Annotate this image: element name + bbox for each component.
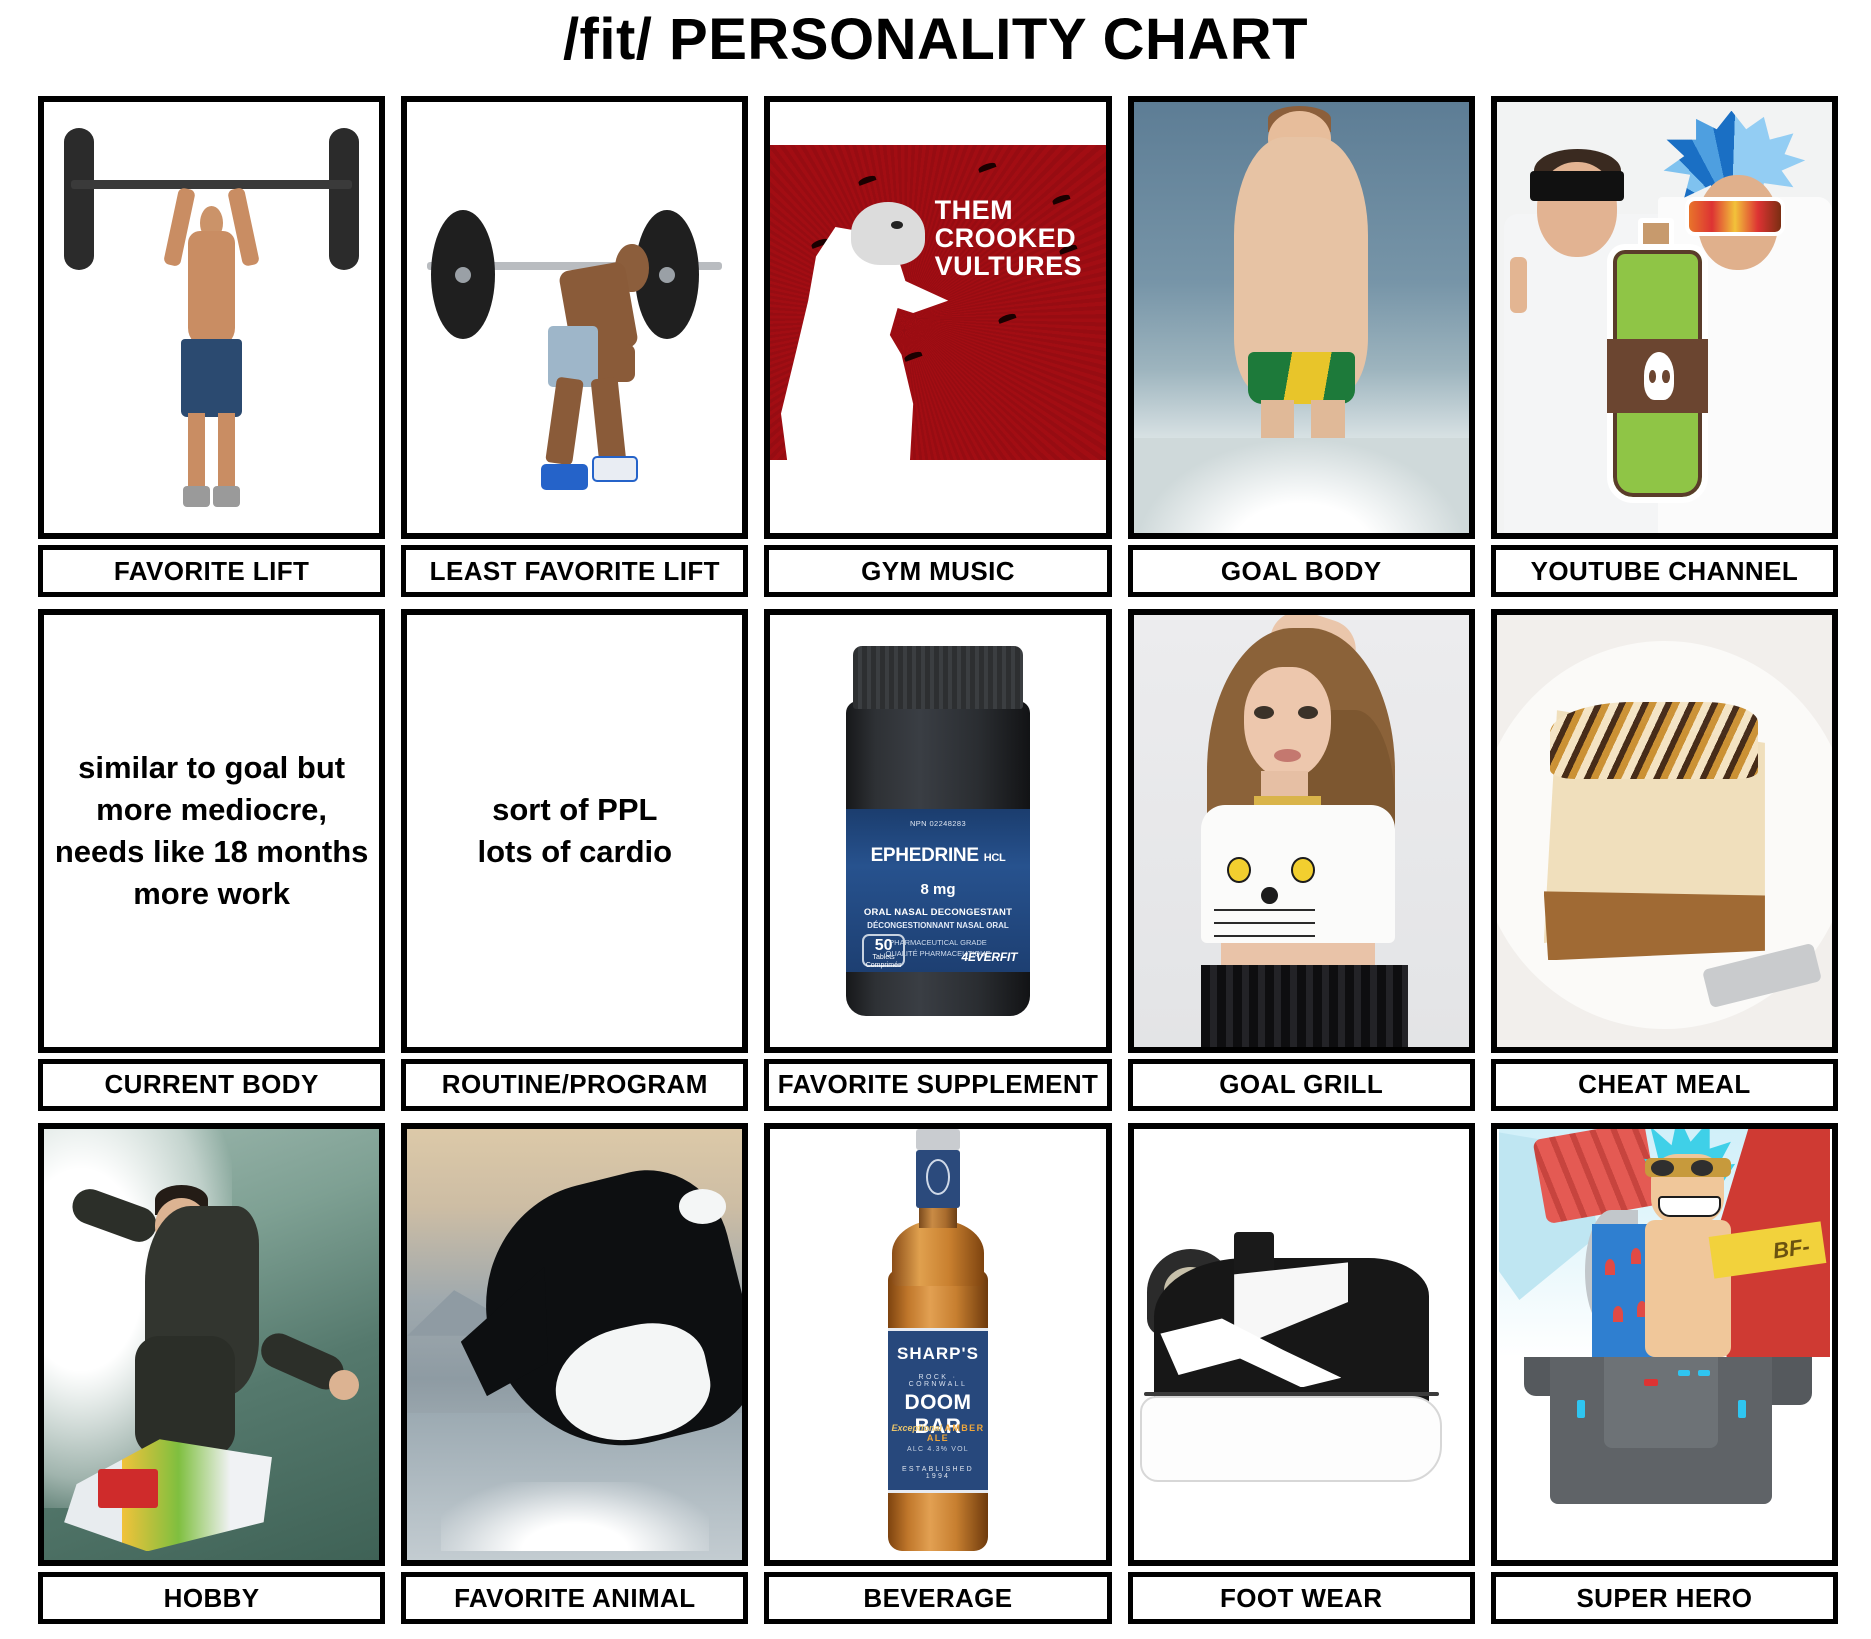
label-favorite-supplement: FAVORITE SUPPLEMENT (764, 1059, 1111, 1111)
current-body-text: similar to goal but more mediocre, needs… (45, 747, 379, 914)
cell-current-body: similar to goal but more mediocre, needs… (38, 609, 385, 1110)
cell-youtube-channel: YOUTUBE CHANNEL (1491, 96, 1838, 597)
label-foot-wear: FOOT WEAR (1128, 1572, 1475, 1624)
routine-program-text-box: sort of PPL lots of cardio (401, 609, 748, 1052)
skull-icon (1644, 352, 1674, 399)
personality-chart-page: /fit/ PERSONALITY CHART FAVORITE LIFT (0, 0, 1871, 1639)
cell-favorite-animal: FAVORITE ANIMAL (401, 1123, 748, 1624)
barbell-squat-icon (407, 102, 742, 533)
label-super-hero: SUPER HERO (1491, 1572, 1838, 1624)
cell-goal-grill: GOAL GRILL (1128, 609, 1475, 1110)
routine-program-text: sort of PPL lots of cardio (467, 789, 682, 873)
cell-least-favorite-lift: LEAST FAVORITE LIFT (401, 96, 748, 597)
label-hobby: HOBBY (38, 1572, 385, 1624)
album-cover-icon: Them Crooked Vultures (770, 145, 1105, 460)
favorite-animal-image (401, 1123, 748, 1566)
cell-gym-music: Them Crooked Vultures GYM MUSIC (764, 96, 1111, 597)
current-body-text-box: similar to goal but more mediocre, needs… (38, 609, 385, 1052)
franky-vehicle-text: BF- (1772, 1234, 1812, 1265)
label-beverage: BEVERAGE (764, 1572, 1111, 1624)
cell-beverage: SHARP'S ROCK · CORNWALL DOOM BAR Excepti… (764, 1123, 1111, 1624)
least-favorite-lift-image (401, 96, 748, 539)
chart-grid: FAVORITE LIFT LEAST FAVORITE LIFT (38, 96, 1838, 1624)
super-hero-image: BF- (1491, 1123, 1838, 1566)
cell-foot-wear: FOOT WEAR (1128, 1123, 1475, 1624)
favorite-supplement-image: NPN 02248283 EPHEDRINE HCL 8 mg ORAL NAS… (764, 609, 1111, 1052)
franky-one-piece-icon: BF- (1499, 1123, 1830, 1357)
label-youtube-channel: YOUTUBE CHANNEL (1491, 545, 1838, 597)
label-favorite-animal: FAVORITE ANIMAL (401, 1572, 748, 1624)
label-gym-music: GYM MUSIC (764, 545, 1111, 597)
beach-physique-icon (1134, 102, 1469, 533)
cell-favorite-supplement: NPN 02248283 EPHEDRINE HCL 8 mg ORAL NAS… (764, 609, 1111, 1110)
overhead-press-icon (44, 102, 379, 533)
label-cheat-meal: CHEAT MEAL (1491, 1059, 1838, 1111)
goal-body-image (1128, 96, 1475, 539)
favorite-lift-image (38, 96, 385, 539)
gym-music-image: Them Crooked Vultures (764, 96, 1111, 539)
cell-hobby: HOBBY (38, 1123, 385, 1624)
orca-icon (407, 1129, 742, 1560)
surfer-icon (44, 1129, 379, 1560)
cheesecake-slice-icon (1497, 615, 1832, 1046)
ephedrine-bottle-icon: NPN 02248283 EPHEDRINE HCL 8 mg ORAL NAS… (846, 646, 1030, 1017)
cell-routine-program: sort of PPL lots of cardio ROUTINE/PROGR… (401, 609, 748, 1110)
page-title: /fit/ PERSONALITY CHART (0, 6, 1871, 73)
youtube-channel-image (1491, 96, 1838, 539)
woman-cat-top-icon (1134, 615, 1469, 1046)
label-favorite-lift: FAVORITE LIFT (38, 545, 385, 597)
goal-grill-image (1128, 609, 1475, 1052)
lab-coat-duo-icon (1497, 102, 1832, 533)
label-goal-body: GOAL BODY (1128, 545, 1475, 597)
hobby-image (38, 1123, 385, 1566)
vans-sneaker-icon (1134, 1129, 1469, 1560)
label-current-body: CURRENT BODY (38, 1059, 385, 1111)
label-goal-grill: GOAL GRILL (1128, 1059, 1475, 1111)
tablet-count: 50 Tablets Comprimés (862, 934, 904, 967)
cell-cheat-meal: CHEAT MEAL (1491, 609, 1838, 1110)
beer-bottle-icon: SHARP'S ROCK · CORNWALL DOOM BAR Excepti… (881, 1137, 995, 1551)
cell-super-hero: BF- SUPER HERO (1491, 1123, 1838, 1624)
cell-favorite-lift: FAVORITE LIFT (38, 96, 385, 597)
label-routine-program: ROUTINE/PROGRAM (401, 1059, 748, 1111)
beverage-image: SHARP'S ROCK · CORNWALL DOOM BAR Excepti… (764, 1123, 1111, 1566)
cell-goal-body: GOAL BODY (1128, 96, 1475, 597)
album-title: Them Crooked Vultures (935, 196, 1083, 280)
cheat-meal-image (1491, 609, 1838, 1052)
label-least-favorite-lift: LEAST FAVORITE LIFT (401, 545, 748, 597)
supplement-brand: 4EVERFIT (962, 950, 1018, 964)
foot-wear-image (1128, 1123, 1475, 1566)
